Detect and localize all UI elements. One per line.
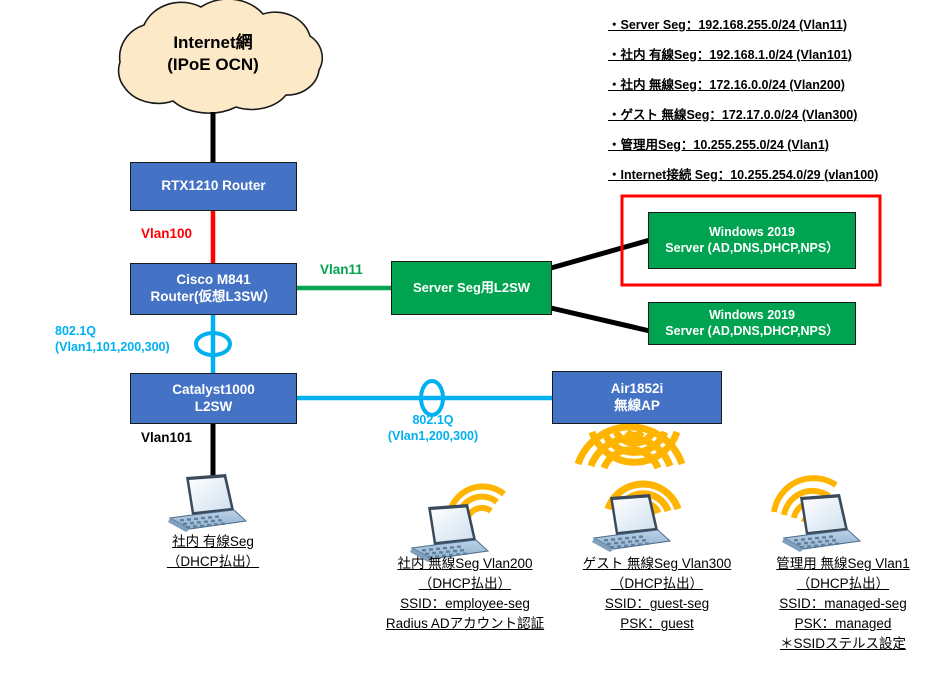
link-serverl2sw-to-server1: [551, 240, 650, 268]
edge-label-vlan101: Vlan101: [141, 430, 192, 447]
air1852i-label-line2: 無線AP: [614, 398, 660, 415]
managed-client-line-2: SSID：managed-seg: [748, 594, 938, 614]
caption-wired-client: 社内 有線Seg （DHCP払出）: [128, 532, 298, 572]
trunk-switch-ap-line1: 802.1Q: [373, 413, 493, 429]
employee-wifi-icon: [449, 487, 504, 521]
catalyst1000-label-line2: L2SW: [195, 399, 233, 416]
segment-row-1: ・社内 有線Seg：192.168.1.0/24 (Vlan101): [608, 38, 948, 68]
cisco-m841-label-line1: Cisco M841: [176, 272, 250, 289]
guest-client-line-3: PSK：guest: [566, 614, 748, 634]
guest-client-line-1: （DHCP払出）: [566, 574, 748, 594]
employee-client-line-1: （DHCP払出）: [352, 574, 578, 594]
catalyst1000-label-line1: Catalyst1000: [172, 382, 255, 399]
server-seg-l2sw-label: Server Seg用L2SW: [413, 280, 530, 296]
managed-wifi-icon: [774, 478, 836, 522]
caption-managed-client: 管理用 無線Seg Vlan1 （DHCP払出） SSID：managed-se…: [748, 554, 938, 654]
laptop-icon-managed: [782, 494, 860, 552]
managed-client-line-1: （DHCP払出）: [748, 574, 938, 594]
node-server-seg-l2sw[interactable]: Server Seg用L2SW: [391, 261, 552, 315]
server2-label-line1: Windows 2019: [709, 308, 795, 324]
managed-client-line-0: 管理用 無線Seg Vlan1: [748, 554, 938, 574]
employee-client-line-2: SSID：employee-seg: [352, 594, 578, 614]
cloud-label-line2: (IPoE OCN): [118, 54, 308, 76]
network-diagram-canvas: Internet網 (IPoE OCN) RTX1210 Router Cisc…: [0, 0, 952, 690]
node-air1852i-ap[interactable]: Air1852i 無線AP: [552, 371, 722, 424]
wired-client-line-1: （DHCP払出）: [128, 552, 298, 572]
guest-client-line-0: ゲスト 無線Seg Vlan300: [566, 554, 748, 574]
server1-label-line1: Windows 2019: [709, 225, 795, 241]
rtx1210-label: RTX1210 Router: [161, 178, 265, 195]
segment-row-4: ・管理用Seg：10.255.255.0/24 (Vlan1): [608, 128, 948, 158]
edge-label-vlan100: Vlan100: [141, 226, 192, 243]
trunk-switch-ap-line2: (Vlan1,200,300): [373, 429, 493, 445]
employee-client-line-0: 社内 無線Seg Vlan200: [352, 554, 578, 574]
cisco-m841-label-line2: Router(仮想L3SW）: [151, 289, 277, 306]
segment-row-3: ・ゲスト 無線Seg：172.17.0.0/24 (Vlan300): [608, 98, 948, 128]
node-windows-server-2[interactable]: Windows 2019 Server (AD,DNS,DHCP,NPS）: [648, 302, 856, 345]
cloud-label-line1: Internet網: [118, 32, 308, 54]
caption-guest-client: ゲスト 無線Seg Vlan300 （DHCP払出） SSID：guest-se…: [566, 554, 748, 634]
edge-label-vlan11: Vlan11: [320, 262, 363, 279]
server1-label-line2: Server (AD,DNS,DHCP,NPS）: [665, 241, 838, 257]
managed-client-line-3: PSK：managed: [748, 614, 938, 634]
segment-list: ・Server Seg：192.168.255.0/24 (Vlan11) ・社…: [608, 8, 948, 188]
node-rtx1210-router[interactable]: RTX1210 Router: [130, 162, 297, 211]
internet-cloud-label: Internet網 (IPoE OCN): [118, 32, 308, 76]
wired-client-line-0: 社内 有線Seg: [128, 532, 298, 552]
server2-label-line2: Server (AD,DNS,DHCP,NPS）: [665, 324, 838, 340]
laptop-icon-guest: [592, 494, 670, 552]
employee-client-line-3: Radius ADアカウント認証: [352, 614, 578, 634]
edge-label-trunk-router-switch: 802.1Q (Vlan1,101,200,300): [55, 324, 205, 355]
node-cisco-m841-router[interactable]: Cisco M841 Router(仮想L3SW）: [130, 263, 297, 315]
trunk-router-switch-line2: (Vlan1,101,200,300): [55, 340, 205, 356]
ap-wifi-waves-icon: [592, 432, 677, 462]
air1852i-label-line1: Air1852i: [611, 381, 664, 398]
link-serverl2sw-to-server2: [551, 308, 650, 331]
managed-client-line-4: ＊SSIDステルス設定: [748, 634, 938, 654]
caption-employee-client: 社内 無線Seg Vlan200 （DHCP払出） SSID：employee-…: [352, 554, 578, 634]
trunk-marker-icon-switch-ap: [421, 381, 443, 415]
segment-row-0: ・Server Seg：192.168.255.0/24 (Vlan11): [608, 8, 948, 38]
node-catalyst1000-l2sw[interactable]: Catalyst1000 L2SW: [130, 373, 297, 424]
guest-client-line-2: SSID：guest-seg: [566, 594, 748, 614]
laptop-icon-wired: [168, 474, 246, 532]
segment-row-2: ・社内 無線Seg：172.16.0.0/24 (Vlan200): [608, 68, 948, 98]
node-windows-server-1[interactable]: Windows 2019 Server (AD,DNS,DHCP,NPS）: [648, 212, 856, 269]
guest-wifi-icon: [578, 427, 682, 513]
edge-label-trunk-switch-ap: 802.1Q (Vlan1,200,300): [373, 413, 493, 444]
trunk-router-switch-line1: 802.1Q: [55, 324, 205, 340]
segment-row-5: ・Internet接続 Seg：10.255.254.0/29 (vlan100…: [608, 158, 948, 188]
